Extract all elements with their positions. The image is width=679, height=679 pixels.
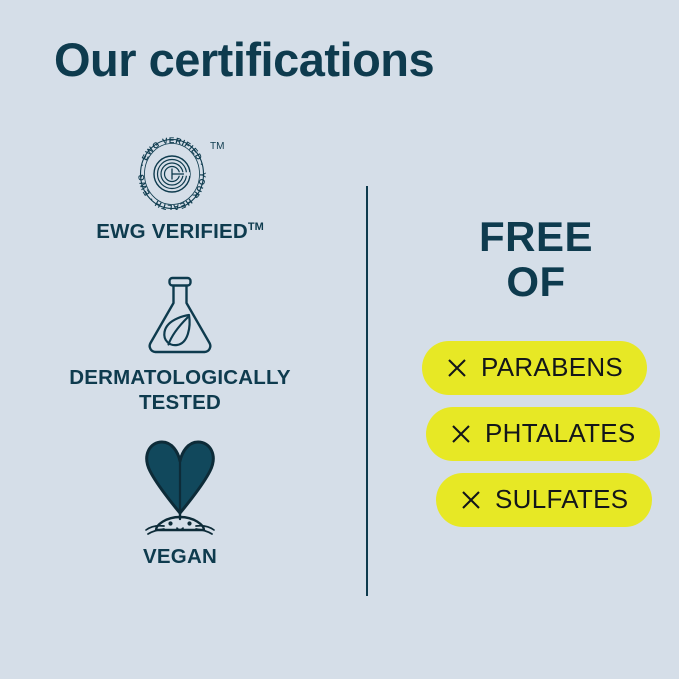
certifications-list: · EWG VERIFIED · FOR YOUR HEALTH · EWG.O… [20,132,340,569]
column-divider [366,186,368,596]
free-of-heading-line-1: FREE [402,214,670,259]
certification-label-line-1: DERMATOLOGICALLY [69,366,291,389]
certification-item-vegan: VEGAN [20,435,340,569]
page-title: Our certifications [54,33,434,87]
free-of-section: FREE OF PARABENS PHTALATES SULFATE [408,214,670,527]
certification-label-line-2: TESTED [139,391,221,414]
ewg-verified-seal-icon: · EWG VERIFIED · FOR YOUR HEALTH · EWG.O… [128,132,232,210]
x-icon [460,489,482,511]
certification-label-vegan: VEGAN [143,544,217,569]
free-of-pill-phtalates: PHTALATES [426,407,660,461]
free-of-pill-list: PARABENS PHTALATES SULFATES [408,341,670,527]
certification-label-ewg-verified: EWG VERIFIEDTM [96,219,264,244]
free-of-heading-line-2: OF [402,259,670,304]
seal-trademark: TM [210,141,224,152]
flask-leaf-icon [137,274,223,356]
certification-label-dermatologically-tested: DERMATOLOGICALLY TESTED [69,365,291,415]
free-of-pill-label: PHTALATES [485,418,636,449]
bunny-heart-ears-icon [124,435,236,535]
free-of-pill-label: PARABENS [481,352,623,383]
certification-item-ewg-verified: · EWG VERIFIED · FOR YOUR HEALTH · EWG.O… [20,132,340,244]
x-icon [446,357,468,379]
free-of-pill-parabens: PARABENS [422,341,647,395]
free-of-pill-sulfates: SULFATES [436,473,652,527]
free-of-heading: FREE OF [402,214,670,305]
certification-label-text: EWG VERIFIED [96,220,248,243]
free-of-pill-label: SULFATES [495,484,628,515]
trademark-symbol: TM [248,221,264,233]
x-icon [450,423,472,445]
certifications-panel: Our certifications · EWG VERIFIED · [0,0,679,679]
certification-item-dermatologically-tested: DERMATOLOGICALLY TESTED [20,274,340,415]
